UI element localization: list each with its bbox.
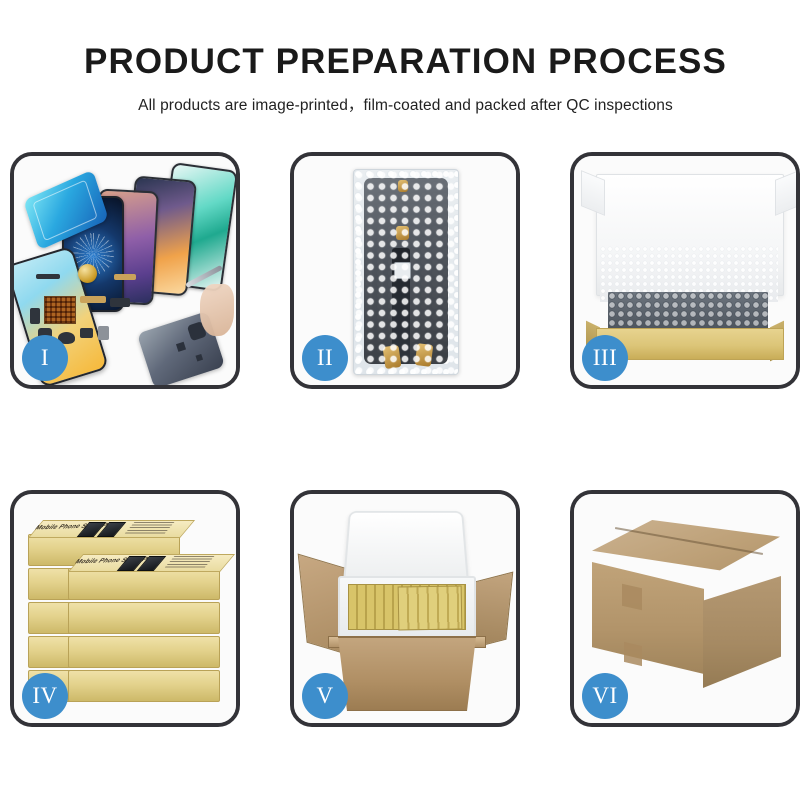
speaker-coil-part [78,264,97,283]
packed-retail-boxes [398,585,463,630]
flex-cable-part-3 [110,298,130,307]
process-step-3[interactable]: III [570,152,800,389]
page-header: PRODUCT PREPARATION PROCESS All products… [0,0,811,115]
stacked-box [68,636,220,668]
contact-grid-part [44,296,76,324]
gold-contact-2 [415,343,434,367]
process-step-4[interactable]: Mobile Phone Spare Parts Mobile Phone Sp… [10,490,240,727]
step-badge-6: VI [582,673,628,719]
gold-contact-3 [396,226,409,240]
step-badge-4: IV [22,673,68,719]
step-badge-5: V [302,673,348,719]
hand [200,284,234,336]
carton-right-face [703,576,781,688]
tape-patch [622,584,642,611]
carton-left-face [592,562,704,674]
bubble-wrap-pouch [353,169,459,375]
process-step-6[interactable]: VI [570,490,800,727]
process-step-2[interactable]: II [290,152,520,389]
step-badge-3: III [582,335,628,381]
flex-cable-part-1 [80,296,106,303]
connector-part [394,262,411,279]
flex-cable-part-2 [114,274,136,280]
process-step-5[interactable]: V [290,490,520,727]
bubble-wrapped-contents [608,292,768,332]
stacked-box-top-front: Mobile Phone Spare Parts [68,568,220,600]
step-badge-2: II [302,335,348,381]
page-subtitle: All products are image-printed，film-coat… [0,93,811,115]
small-component-f [30,308,40,324]
tape-patch [624,642,642,666]
gold-contact-4 [398,180,408,192]
step-badge-1: I [22,335,68,381]
process-step-1[interactable]: I [10,152,240,389]
small-component-a [36,274,60,279]
small-component-d [80,328,93,338]
gold-contact-1 [383,344,402,368]
small-component-e [98,326,109,340]
page-title: PRODUCT PREPARATION PROCESS [0,44,811,81]
carton-front-panel [332,637,482,711]
process-panel-grid: I II [10,152,801,727]
stacked-box [68,670,220,702]
stacked-box [68,602,220,634]
